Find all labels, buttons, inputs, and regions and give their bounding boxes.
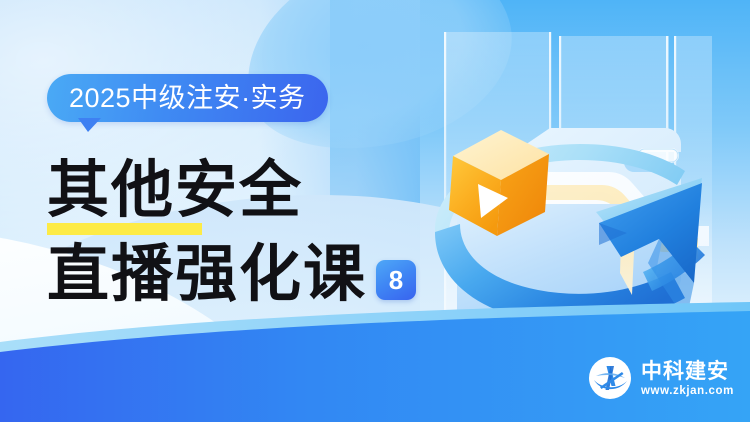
- course-category-badge: 2025中级注安·实务: [47, 74, 328, 122]
- title-line-2: 直播强化课: [47, 236, 367, 312]
- folder-documents-icon: [457, 128, 709, 338]
- brand-name: 中科建安: [641, 360, 734, 382]
- title-line-1-wrapper: 其他安全: [47, 152, 447, 230]
- title-block: 其他安全 直播强化课 8: [47, 152, 447, 312]
- badge-tail-pointer: [78, 118, 101, 132]
- circular-arrow-icon: [435, 144, 705, 325]
- course-category-label: 2025中级注安·实务: [69, 85, 306, 112]
- episode-number-label: 8: [389, 267, 403, 293]
- title-line-1: 其他安全: [47, 152, 303, 228]
- banner-content: 2025中级注安·实务 其他安全 直播强化课 8: [0, 0, 470, 422]
- logo-text-group: 中科建安 www.zkjan.com: [641, 360, 734, 397]
- course-banner: 2025中级注安·实务 其他安全 直播强化课 8: [0, 0, 750, 422]
- brand-url: www.zkjan.com: [641, 385, 734, 397]
- zkjan-circle-logo-icon: [588, 356, 632, 400]
- translucent-panels-icon: [444, 32, 712, 332]
- episode-number-badge: 8: [376, 260, 416, 300]
- title-line-2-wrapper: 直播强化课 8: [47, 230, 447, 312]
- brand-logo[interactable]: 中科建安 www.zkjan.com: [588, 356, 734, 400]
